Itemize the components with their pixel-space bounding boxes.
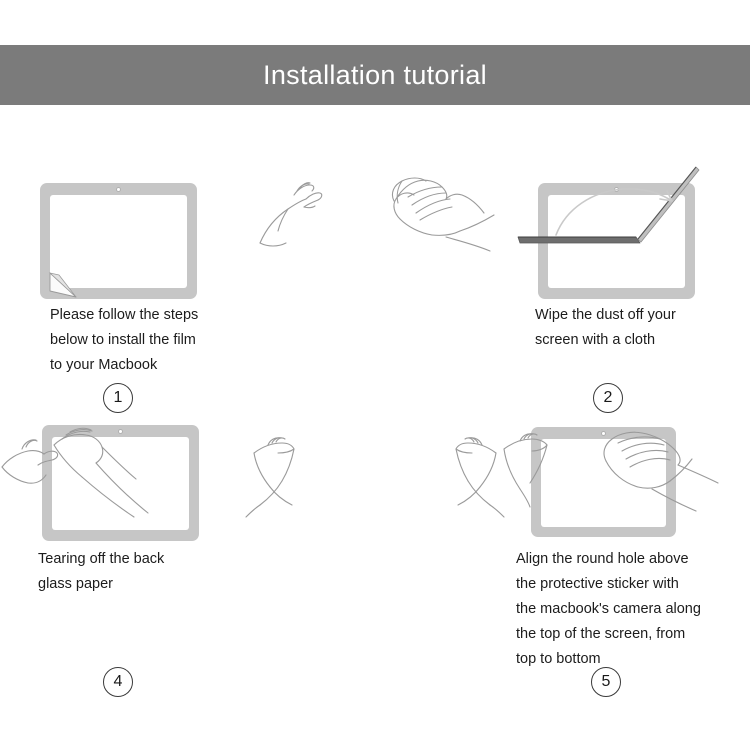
step-panel-2: Wipe the dust off your screen with a clo… [250,125,500,280]
device-frame-icon [40,183,197,299]
device-screen [52,437,189,530]
hands-wiping-icon [250,125,500,280]
step-5-illustration [250,405,500,560]
step-number-badge-4: 4 [103,667,133,697]
steps-grid: Please follow the steps below to install… [0,105,750,750]
step-number-badge-5: 5 [591,667,621,697]
step-1-caption: Please follow the steps below to install… [50,303,245,378]
step-2-illustration [250,125,500,280]
device-frame-icon [42,425,199,541]
step-number-4: 4 [114,673,123,691]
device-screen [50,195,187,288]
camera-dot-icon [116,187,121,192]
hand-pressing-screen-icon [500,405,750,560]
header-banner: Installation tutorial [0,45,750,105]
step-panel-6: Lightly press the four sides of the scre… [500,405,750,560]
step-4-illustration [0,405,250,560]
step-4-caption: Tearing off the back glass paper [38,547,238,597]
step-3-illustration [500,125,750,280]
step-panel-3: Open the screen to a larger angle to fac… [500,125,750,280]
step-6-illustration [500,405,750,560]
camera-dot-icon [118,429,123,434]
laptop-opening-icon [500,125,750,280]
page-title: Installation tutorial [263,60,487,91]
step-panel-4: Tearing off the back glass paper 4 [0,405,250,560]
step-panel-5: Align the round hole above the protectiv… [250,405,500,560]
step-2-caption: Wipe the dust off your screen with a clo… [535,303,735,353]
step-number-5: 5 [602,673,611,691]
step-panel-1: Please follow the steps below to install… [0,125,250,280]
tutorial-page: Installation tutorial Please follow the … [0,0,750,750]
two-hands-aligning-icon [250,405,500,560]
step-1-illustration [0,125,250,280]
step-5-caption: Align the round hole above the protectiv… [516,547,726,672]
